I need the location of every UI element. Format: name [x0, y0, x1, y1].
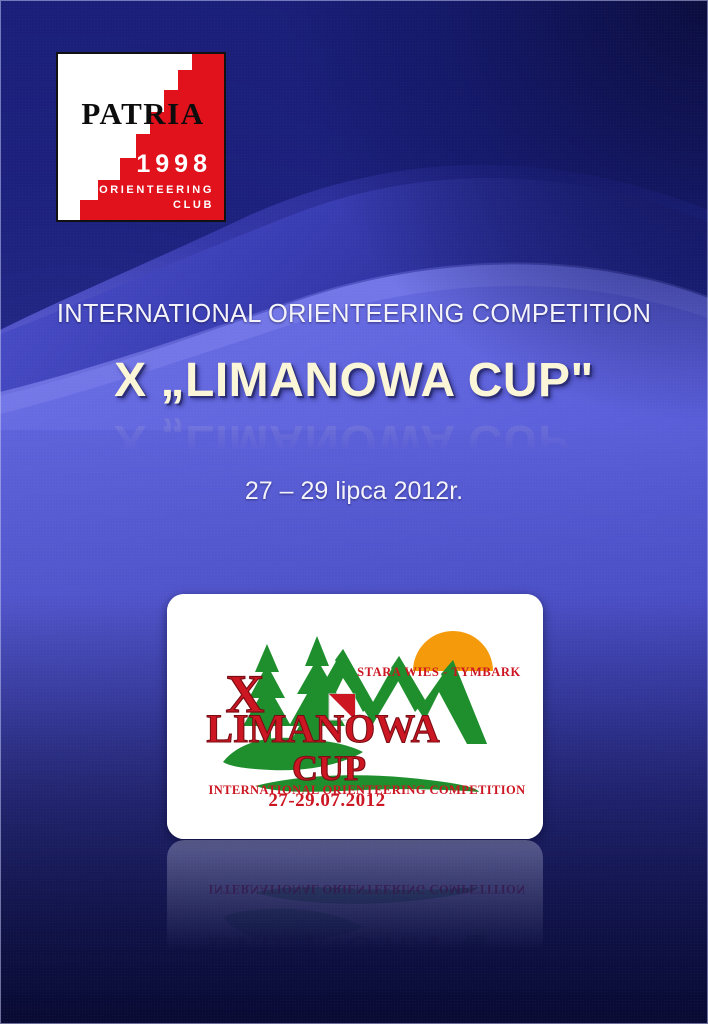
poster-page: PATRIA 1998 ORIENTEERING CLUB INTERNATIO…	[0, 0, 708, 1024]
page-border	[0, 0, 708, 1024]
